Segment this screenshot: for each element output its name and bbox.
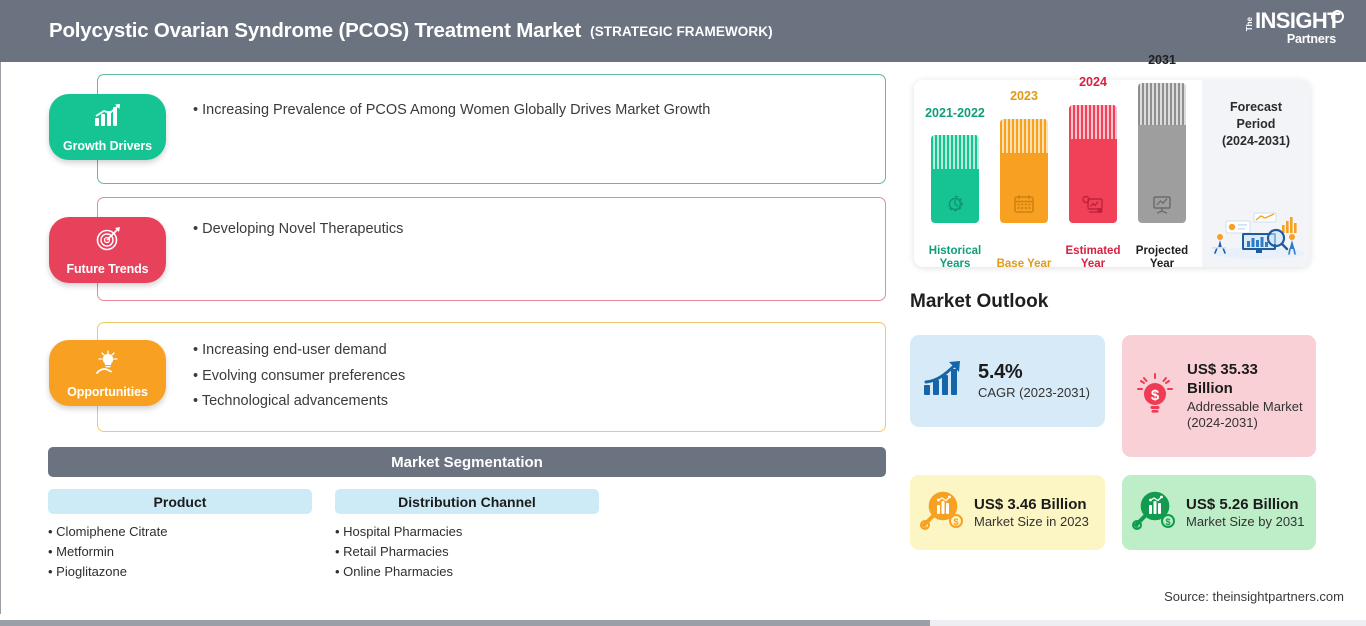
bullet-item: • Evolving consumer preferences — [193, 369, 883, 384]
logo-partners-text: Partners — [1224, 33, 1336, 46]
bullet-item: • Technological advancements — [193, 394, 883, 409]
outlook-card-text: US$ 3.46 Billion Market Size in 2023 — [974, 495, 1089, 531]
bullet-item: • Developing Novel Therapeutics — [193, 222, 883, 237]
outlook-card-text: US$ 35.33 Billion Addressable Market (20… — [1187, 360, 1307, 432]
market-segmentation-header: Market Segmentation — [48, 447, 886, 477]
segment-items: • Clomiphene Citrate • Metformin • Piogl… — [48, 525, 312, 578]
clock-history-icon — [942, 193, 968, 215]
outlook-value: US$ 35.33 Billion — [1187, 360, 1307, 398]
segmentation-column-product: Product • Clomiphene Citrate • Metformin… — [48, 489, 312, 585]
segment-title: Product — [48, 489, 312, 514]
forecast-line-1: Forecast — [1222, 99, 1290, 116]
list-item: • Pioglitazone — [48, 565, 312, 578]
bar-year-label: 2023 — [993, 89, 1055, 103]
bar-solid-body — [1000, 153, 1048, 223]
badge-growth-drivers[interactable]: Growth Drivers — [49, 94, 166, 160]
magnifier-chart-icon: $ $ — [918, 487, 966, 538]
factor-box-opportunities: • Increasing end-user demand • Evolving … — [97, 322, 886, 432]
outlook-label: Market Size in 2023 — [974, 514, 1089, 531]
bar-striped-top — [931, 135, 979, 169]
badge-label: Future Trends — [66, 262, 148, 276]
bar-year-label: 2024 — [1062, 75, 1124, 89]
lightbulb-hand-icon — [93, 349, 123, 375]
outlook-card-text: US$ 5.26 Billion Market Size by 2031 — [1186, 495, 1305, 531]
outlook-value: US$ 3.46 Billion — [974, 495, 1089, 514]
badge-future-trends[interactable]: Future Trends — [49, 217, 166, 283]
segment-item-label: Hospital Pharmacies — [343, 524, 462, 539]
outlook-card-addressable-market: $ US$ 35.33 Billion Addressable Market (… — [1122, 335, 1316, 457]
list-item: • Retail Pharmacies — [335, 545, 599, 558]
bar-year-label: 2031 — [1131, 53, 1193, 67]
bar-solid-body — [1138, 125, 1186, 223]
presentation-chart-icon — [1149, 193, 1175, 215]
horizontal-scrollbar[interactable] — [0, 618, 1366, 626]
page-subtitle: (STRATEGIC FRAMEWORK) — [590, 24, 773, 39]
outlook-card-cagr: 5.4% CAGR (2023-2031) — [910, 335, 1105, 427]
bullet-item: • Increasing Prevalence of PCOS Among Wo… — [193, 103, 883, 118]
scrollbar-thumb[interactable] — [0, 620, 930, 626]
list-item: • Clomiphene Citrate — [48, 525, 312, 538]
infographic-page: Polycystic Ovarian Syndrome (PCOS) Treat… — [0, 0, 1366, 626]
forecast-bars: 2021-2022 Historical Years — [914, 80, 1202, 267]
factor-bullets-growth-drivers: • Increasing Prevalence of PCOS Among Wo… — [193, 103, 883, 118]
outlook-label: Market Size by 2031 — [1186, 514, 1305, 531]
bar-caption: Historical Years — [918, 245, 992, 271]
bar-visual — [1138, 83, 1186, 223]
bar-caption: Base Year — [987, 258, 1061, 271]
logo-insight-text: INSIGHT — [1255, 10, 1340, 32]
bar-chart-arrow-icon — [93, 103, 123, 129]
factor-box-growth-drivers: • Increasing Prevalence of PCOS Among Wo… — [97, 74, 886, 184]
calendar-icon — [1011, 193, 1037, 215]
insight-partners-logo: The INSIGHT Partners — [1224, 10, 1344, 52]
lightbulb-dollar-icon: $ — [1132, 371, 1178, 422]
svg-text:$: $ — [953, 517, 958, 527]
bar-visual — [1000, 119, 1048, 223]
source-text: Source: theinsightpartners.com — [1164, 589, 1344, 604]
list-item: • Hospital Pharmacies — [335, 525, 599, 538]
segment-item-label: Metformin — [56, 544, 114, 559]
logo-circle-icon — [1331, 10, 1344, 23]
factor-bullets-future-trends: • Developing Novel Therapeutics — [193, 222, 883, 237]
bar-striped-top — [1000, 119, 1048, 153]
list-item: • Metformin — [48, 545, 312, 558]
badge-label: Opportunities — [67, 385, 148, 399]
badge-label: Growth Drivers — [63, 139, 152, 153]
forecast-period-chart: 2021-2022 Historical Years — [914, 80, 1310, 267]
segment-item-label: Retail Pharmacies — [343, 544, 449, 559]
bar-striped-top — [1138, 83, 1186, 125]
bar-solid-body — [931, 169, 979, 223]
segment-item-label: Online Pharmacies — [343, 564, 453, 579]
bar-caption: Projected Year — [1125, 245, 1199, 271]
segment-item-label: Clomiphene Citrate — [56, 524, 167, 539]
segment-items: • Hospital Pharmacies • Retail Pharmacie… — [335, 525, 599, 578]
factor-bullets-opportunities: • Increasing end-user demand • Evolving … — [193, 343, 883, 409]
outlook-value: US$ 5.26 Billion — [1186, 495, 1305, 514]
magnifier-chart-icon: $ $ — [1130, 487, 1178, 538]
outlook-card-text: 5.4% CAGR (2023-2031) — [978, 360, 1090, 402]
outlook-card-market-size-2023: $ $ US$ 3.46 Billion Market Size in 2023 — [910, 475, 1105, 550]
segment-item-label: Pioglitazone — [56, 564, 127, 579]
bar-striped-top — [1069, 105, 1117, 139]
bar-visual — [931, 135, 979, 223]
segmentation-column-distribution-channel: Distribution Channel • Hospital Pharmaci… — [335, 489, 599, 585]
outlook-card-market-size-2031: $ $ US$ 5.26 Billion Market Size by 2031 — [1122, 475, 1316, 550]
outlook-label: Addressable Market (2024-2031) — [1187, 399, 1307, 432]
list-item: • Online Pharmacies — [335, 565, 599, 578]
segment-title: Distribution Channel — [335, 489, 599, 514]
forecast-line-3: (2024-2031) — [1222, 133, 1290, 150]
growth-chart-icon — [922, 359, 968, 404]
outlook-label: CAGR (2023-2031) — [978, 385, 1090, 402]
forecast-period-title: Forecast Period (2024-2031) — [1222, 99, 1290, 150]
bar-caption: Estimated Year — [1056, 245, 1130, 271]
outlook-value: 5.4% — [978, 360, 1090, 386]
forecast-line-2: Period — [1222, 116, 1290, 133]
data-analysis-illustration — [1206, 207, 1306, 259]
bar-visual — [1069, 105, 1117, 223]
svg-text:$: $ — [1151, 387, 1160, 404]
badge-opportunities[interactable]: Opportunities — [49, 340, 166, 406]
analytics-gear-icon — [1080, 193, 1106, 215]
bullet-item: • Increasing end-user demand — [193, 343, 883, 358]
market-outlook-title: Market Outlook — [910, 291, 1048, 313]
target-dart-icon — [93, 226, 123, 252]
logo-the-text: The — [1246, 17, 1254, 31]
svg-text:$: $ — [1165, 517, 1170, 527]
bar-solid-body — [1069, 139, 1117, 223]
page-title: Polycystic Ovarian Syndrome (PCOS) Treat… — [49, 19, 581, 43]
factor-box-future-trends: • Developing Novel Therapeutics — [97, 197, 886, 301]
bar-year-label: 2021-2022 — [924, 106, 986, 120]
forecast-period-panel: Forecast Period (2024-2031) — [1202, 80, 1310, 267]
